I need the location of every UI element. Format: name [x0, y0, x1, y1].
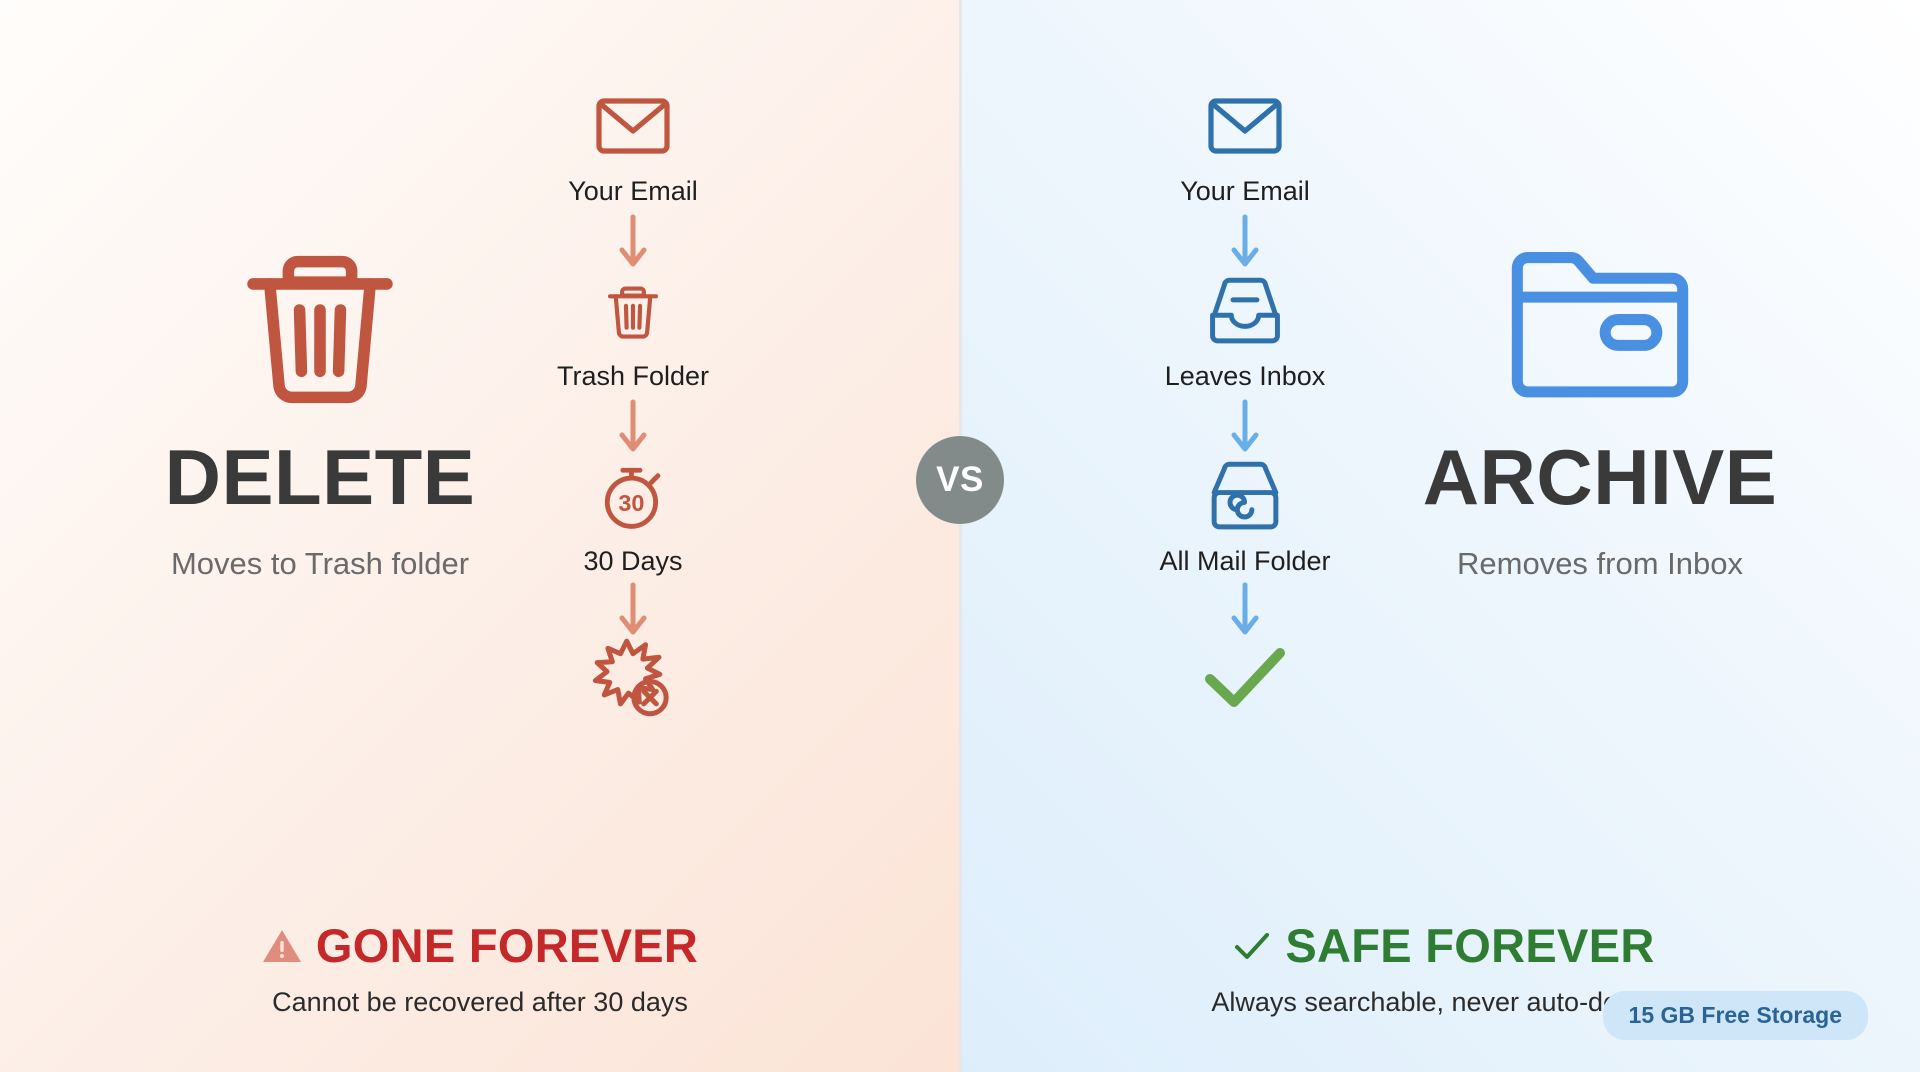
flow-label: Leaves Inbox: [1165, 361, 1326, 392]
delete-subtitle: Moves to Trash folder: [171, 546, 469, 582]
flow-step-leaves-inbox: Leaves Inbox: [1165, 273, 1326, 392]
flow-step-your-email: Your Email: [568, 88, 698, 207]
inbox-tray-icon: [1202, 273, 1288, 349]
flow-step-trash-folder: Trash Folder: [557, 273, 709, 392]
check-mark-icon: [1201, 639, 1289, 715]
arrow-down-icon: [1228, 396, 1262, 458]
check-mark-icon: [1233, 930, 1271, 962]
vs-badge: VS: [916, 436, 1004, 524]
arrow-down-icon: [1228, 211, 1262, 273]
flow-step-all-mail-folder: All Mail Folder: [1159, 458, 1330, 577]
panel-divider: [959, 0, 962, 1072]
warning-triangle-icon: [262, 928, 302, 964]
flow-label: All Mail Folder: [1159, 546, 1330, 577]
envelope-icon: [1207, 88, 1283, 164]
infographic-canvas: DELETE Moves to Trash folder Your Email: [0, 0, 1920, 1072]
flow-label: 30 Days: [583, 546, 682, 577]
arrow-down-icon: [616, 211, 650, 273]
archive-box-infinity-icon: [1202, 458, 1288, 534]
flow-step-safe: [1201, 639, 1289, 715]
flow-label: Trash Folder: [557, 361, 709, 392]
trash-can-icon: [227, 230, 413, 416]
flow-step-30-days: 30 30 Days: [583, 458, 682, 577]
stopwatch-value: 30: [618, 490, 644, 516]
delete-verdict-caption: Cannot be recovered after 30 days: [272, 987, 688, 1018]
archive-folder-icon: [1507, 230, 1693, 416]
delete-verdict: GONE FOREVER Cannot be recovered after 3…: [100, 922, 860, 1018]
trash-can-icon: [601, 273, 665, 349]
archive-panel: Your Email Leaves Inbox: [960, 0, 1920, 1072]
delete-verdict-headline: GONE FOREVER: [262, 922, 698, 969]
burst-x-icon: [587, 639, 679, 715]
delete-title: DELETE: [165, 438, 476, 516]
flow-label: Your Email: [1180, 176, 1310, 207]
arrow-down-icon: [1228, 581, 1262, 639]
archive-verdict-headline: SAFE FOREVER: [1233, 922, 1654, 969]
archive-verdict-text: SAFE FOREVER: [1285, 922, 1654, 969]
archive-subtitle: Removes from Inbox: [1457, 546, 1743, 582]
delete-verdict-text: GONE FOREVER: [316, 922, 698, 969]
delete-flow: Your Email: [468, 88, 798, 715]
storage-badge: 15 GB Free Storage: [1603, 991, 1868, 1040]
arrow-down-icon: [616, 581, 650, 639]
flow-label: Your Email: [568, 176, 698, 207]
arrow-down-icon: [616, 396, 650, 458]
flow-step-gone: [587, 639, 679, 715]
stopwatch-icon: 30: [593, 458, 673, 534]
envelope-icon: [595, 88, 671, 164]
archive-title: ARCHIVE: [1423, 438, 1778, 516]
delete-panel: DELETE Moves to Trash folder Your Email: [0, 0, 960, 1072]
flow-step-your-email: Your Email: [1180, 88, 1310, 207]
archive-hero-block: ARCHIVE Removes from Inbox: [1340, 0, 1860, 1072]
